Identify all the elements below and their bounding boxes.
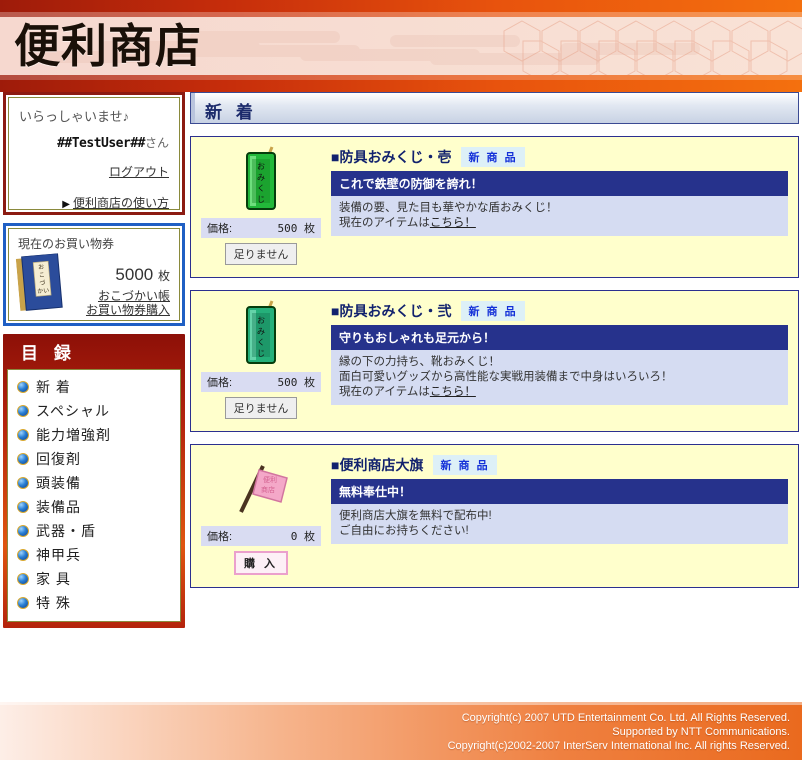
main-content: 新 着 おみくじ価格:500 枚足りません■防具おみくじ・壱新 商 品これで鉄壁… (190, 92, 799, 588)
welcome-message: いらっしゃいませ♪ (19, 106, 169, 125)
price-value: 500 枚 (278, 374, 316, 390)
product-title-row: ■便利商店大旗新 商 品 (331, 454, 788, 476)
sidebar: いらっしゃいませ♪ ##TestUser##さん ログアウト ▶便利商店の使い方… (3, 92, 185, 628)
user-panel: いらっしゃいませ♪ ##TestUser##さん ログアウト ▶便利商店の使い方 (3, 92, 185, 215)
bullet-icon (17, 453, 29, 465)
svg-text:み: み (257, 327, 265, 336)
catalog-item[interactable]: 頭装備 (8, 471, 180, 495)
bullet-icon (17, 549, 29, 561)
voucher-amount-row: 5000 枚 (115, 265, 170, 285)
price-box: 価格:0 枚 (201, 526, 321, 546)
hexagon-pattern-icon (502, 17, 802, 75)
catalog-item-label: 家 具 (36, 569, 71, 589)
product-headline: 無料奉仕中！ (331, 479, 788, 504)
catalog-list: 新 着スペシャル能力増強剤回復剤頭装備装備品武器・盾神甲兵家 具特 殊 (7, 369, 181, 622)
catalog-item-label: 回復剤 (36, 449, 81, 469)
product-headline: これで鉄壁の防御を誇れ！ (331, 171, 788, 196)
copyright-line: Copyright(c)2002-2007 InterServ Internat… (448, 739, 790, 753)
username-row: ##TestUser##さん (19, 134, 169, 151)
product-left-column: おみくじ価格:500 枚足りません (201, 146, 321, 265)
item-detail-link[interactable]: こちら！ (430, 217, 476, 229)
new-product-badge: 新 商 品 (433, 455, 496, 475)
description-line: 現在のアイテムはこちら！ (339, 385, 780, 400)
svg-text:づ: づ (39, 279, 46, 287)
item-detail-link[interactable]: こちら！ (430, 386, 476, 398)
bullet-icon (17, 477, 29, 489)
section-header: 新 着 (190, 92, 799, 124)
description-line: 面白可愛いグッズから高性能な実戦用装備まで中身はいろいろ！ (339, 370, 780, 385)
price-label: 価格: (207, 528, 232, 544)
bullet-icon (17, 597, 29, 609)
section-title: 新 着 (191, 93, 798, 123)
description-line: 装備の要、見た目も華やかな盾おみくじ！ (339, 201, 780, 216)
logout-link[interactable]: ログアウト (109, 165, 169, 179)
copyright-line: Copyright(c) 2007 UTD Entertainment Co. … (448, 711, 790, 725)
voucher-title: 現在のお買い物券 (18, 235, 170, 252)
new-product-badge: 新 商 品 (461, 147, 524, 167)
catalog-item-label: 頭装備 (36, 473, 81, 493)
insufficient-funds-button: 足りません (225, 397, 298, 419)
product-icon: おみくじ (201, 146, 321, 214)
catalog-item-label: 武器・盾 (36, 521, 96, 541)
svg-text:お: お (257, 316, 265, 325)
svg-text:こ: こ (39, 272, 46, 279)
ledger-link[interactable]: おこづかい帳 (98, 289, 170, 303)
product-card: おみくじ価格:500 枚足りません■防具おみくじ・壱新 商 品これで鉄壁の防御を… (190, 136, 799, 278)
product-title: ■防具おみくじ・壱 (331, 147, 451, 167)
catalog-item[interactable]: 装備品 (8, 495, 180, 519)
svg-text:便利: 便利 (263, 475, 277, 484)
product-icon: おみくじ (201, 300, 321, 368)
pink-flag-icon: 便利商店 (229, 458, 293, 518)
bullet-icon (17, 525, 29, 537)
catalog-item-label: 特 殊 (36, 593, 71, 613)
description-line: ご自由にお持ちください! (339, 524, 780, 539)
catalog-item[interactable]: 特 殊 (8, 591, 180, 615)
product-title: ■便利商店大旗 (331, 455, 423, 475)
copyright-line: Supported by NTT Communications. (448, 725, 790, 739)
product-description: 装備の要、見た目も華やかな盾おみくじ！現在のアイテムはこちら！ (331, 196, 788, 236)
howto-row: ▶便利商店の使い方 (19, 194, 169, 211)
bullet-icon (17, 429, 29, 441)
footer-stripe (0, 702, 802, 705)
catalog-panel: 目 録 新 着スペシャル能力増強剤回復剤頭装備装備品武器・盾神甲兵家 具特 殊 (3, 334, 185, 628)
savings-book-icon: お こ づ かい (16, 253, 65, 313)
svg-text:商店: 商店 (261, 485, 275, 494)
product-headline: 守りもおしゃれも足元から！ (331, 325, 788, 350)
logout-row: ログアウト (19, 163, 169, 180)
page-layout: いらっしゃいませ♪ ##TestUser##さん ログアウト ▶便利商店の使い方… (0, 92, 802, 702)
description-line: 現在のアイテムはこちら！ (339, 216, 780, 231)
product-description: 便利商店大旗を無料で配布中!ご自由にお持ちください! (331, 504, 788, 544)
header-stripe-bottom (0, 75, 802, 80)
price-value: 500 枚 (278, 220, 316, 236)
product-card: おみくじ価格:500 枚足りません■防具おみくじ・弐新 商 品守りもおしゃれも足… (190, 290, 799, 432)
catalog-item-label: 能力増強剤 (36, 425, 111, 445)
bullet-icon (17, 405, 29, 417)
product-list: おみくじ価格:500 枚足りません■防具おみくじ・壱新 商 品これで鉄壁の防御を… (190, 136, 799, 588)
omikuji-green-icon: おみくじ (237, 145, 285, 215)
product-card: 便利商店価格:0 枚購 入■便利商店大旗新 商 品無料奉仕中！便利商店大旗を無料… (190, 444, 799, 588)
catalog-item-label: スペシャル (36, 401, 110, 421)
voucher-panel: 現在のお買い物券 お こ づ かい 5000 枚 (3, 223, 185, 326)
section-header-accent (191, 93, 195, 123)
price-value: 0 枚 (291, 528, 315, 544)
catalog-item[interactable]: 回復剤 (8, 447, 180, 471)
product-right-column: ■防具おみくじ・壱新 商 品これで鉄壁の防御を誇れ！装備の要、見た目も華やかな盾… (321, 146, 788, 265)
product-title-row: ■防具おみくじ・弐新 商 品 (331, 300, 788, 322)
description-line: 便利商店大旗を無料で配布中! (339, 509, 780, 524)
price-box: 価格:500 枚 (201, 218, 321, 238)
site-header: 便利商店 (0, 0, 802, 92)
catalog-item-label: 装備品 (36, 497, 81, 517)
bullet-icon (17, 381, 29, 393)
shop-title: 便利商店 (14, 18, 202, 74)
svg-text:み: み (257, 173, 265, 182)
product-left-column: おみくじ価格:500 枚足りません (201, 300, 321, 419)
bullet-icon (17, 573, 29, 585)
site-footer: Copyright(c) 2007 UTD Entertainment Co. … (0, 702, 802, 760)
copyright-text: Copyright(c) 2007 UTD Entertainment Co. … (448, 711, 790, 753)
catalog-item[interactable]: 神甲兵 (8, 543, 180, 567)
catalog-item[interactable]: 新 着 (8, 375, 180, 399)
howto-link[interactable]: 便利商店の使い方 (73, 196, 169, 210)
price-label: 価格: (207, 220, 232, 236)
svg-text:お: お (38, 264, 45, 271)
catalog-item-label: 新 着 (36, 377, 71, 397)
username-suffix: さん (145, 136, 169, 150)
catalog-item[interactable]: スペシャル (8, 399, 180, 423)
product-right-column: ■便利商店大旗新 商 品無料奉仕中！便利商店大旗を無料で配布中!ご自由にお持ちく… (321, 454, 788, 575)
catalog-title: 目 録 (7, 334, 181, 369)
bullet-icon (17, 501, 29, 513)
omikuji-teal-icon: おみくじ (237, 299, 285, 369)
svg-text:じ: じ (257, 349, 265, 358)
svg-text:く: く (257, 184, 265, 193)
product-left-column: 便利商店価格:0 枚購 入 (201, 454, 321, 575)
svg-text:お: お (257, 162, 265, 171)
svg-text:じ: じ (257, 195, 265, 204)
catalog-item-label: 神甲兵 (36, 545, 81, 565)
price-label: 価格: (207, 374, 232, 390)
product-description: 縁の下の力持ち、靴おみくじ！面白可愛いグッズから高性能な実戦用装備まで中身はいろ… (331, 350, 788, 405)
purchase-button[interactable]: 購 入 (234, 551, 288, 575)
product-title-row: ■防具おみくじ・壱新 商 品 (331, 146, 788, 168)
catalog-item[interactable]: 能力増強剤 (8, 423, 180, 447)
new-product-badge: 新 商 品 (461, 301, 524, 321)
catalog-item[interactable]: 武器・盾 (8, 519, 180, 543)
insufficient-funds-button: 足りません (225, 243, 298, 265)
product-title: ■防具おみくじ・弐 (331, 301, 451, 321)
catalog-item[interactable]: 家 具 (8, 567, 180, 591)
price-box: 価格:500 枚 (201, 372, 321, 392)
voucher-unit: 枚 (158, 269, 170, 283)
triangle-marker-icon: ▶ (62, 199, 70, 210)
description-line: 縁の下の力持ち、靴おみくじ！ (339, 355, 780, 370)
product-right-column: ■防具おみくじ・弐新 商 品守りもおしゃれも足元から！縁の下の力持ち、靴おみくじ… (321, 300, 788, 419)
voucher-purchase-link[interactable]: お買い物券購入 (86, 303, 170, 317)
voucher-links: おこづかい帳 お買い物券購入 (86, 289, 170, 317)
voucher-amount: 5000 (115, 265, 153, 284)
product-icon: 便利商店 (201, 454, 321, 522)
svg-text:く: く (257, 338, 265, 347)
svg-text:かい: かい (37, 287, 50, 295)
username-label: ##TestUser## (57, 136, 145, 151)
